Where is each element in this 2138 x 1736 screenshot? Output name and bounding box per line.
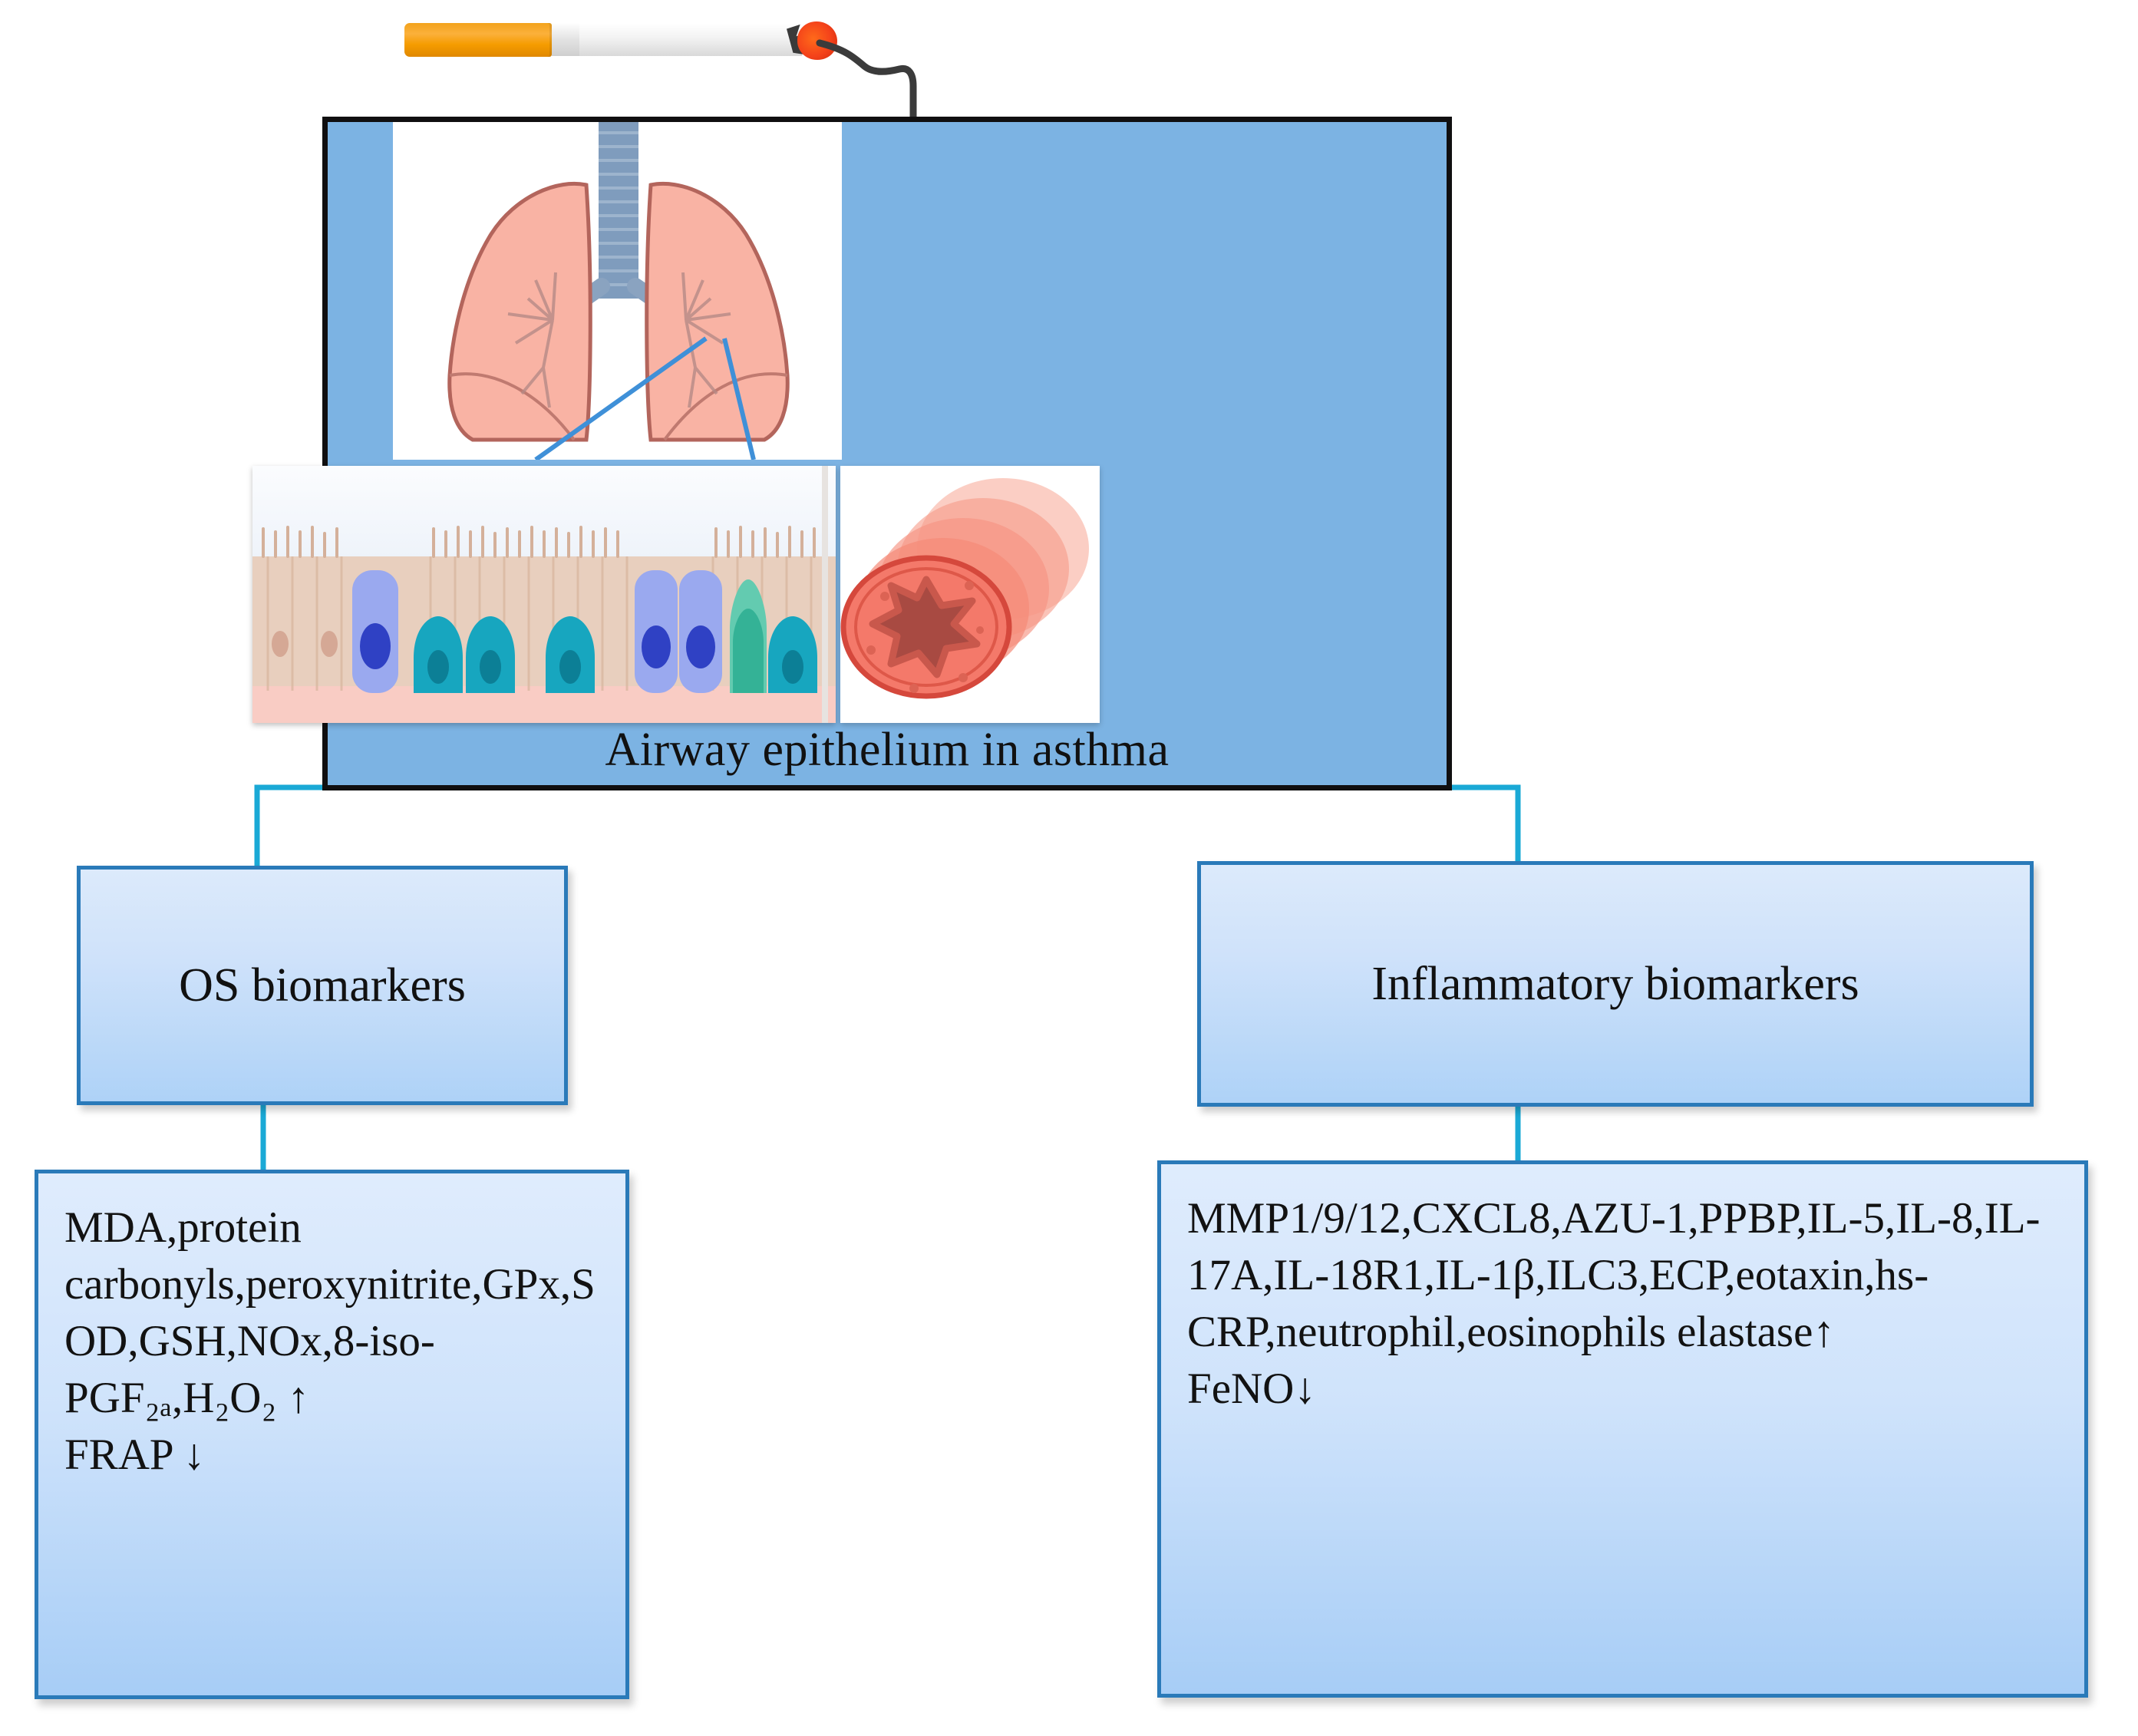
connector-panel-to-os [257, 787, 325, 867]
connector-panel-to-inflammatory [1449, 787, 1518, 863]
cigarette-icon [404, 20, 842, 60]
cigarette-band [552, 24, 579, 56]
lungs-illustration [393, 122, 842, 460]
goblet-cells [352, 570, 722, 693]
os-biomarkers-detail-text: MDA,protein carbonyls,peroxynitrite,GPx,… [64, 1200, 605, 1484]
figure-canvas: Airway epithelium in asthma OS biomarker… [0, 0, 2138, 1736]
os-biomarkers-detail-box[interactable]: MDA,protein carbonyls,peroxynitrite,GPx,… [35, 1170, 629, 1699]
cigarette-filter [404, 23, 552, 57]
constricted-airway-cross-section [840, 466, 1100, 723]
inflammatory-biomarkers-label: Inflammatory biomarkers [1371, 957, 1859, 1012]
left-lung [450, 183, 591, 440]
airway-epithelium-illustration [252, 466, 836, 723]
os-biomarkers-box[interactable]: OS biomarkers [77, 866, 568, 1105]
cigarette-paper [579, 24, 802, 56]
os-biomarkers-label: OS biomarkers [179, 959, 466, 1013]
airway-epithelium-panel: Airway epithelium in asthma [322, 117, 1452, 790]
inflammatory-biomarkers-detail-text: MMP1/9/12,CXCL8,AZU-1,PPBP,IL-5,IL-8,IL-… [1187, 1190, 2064, 1418]
inflammatory-biomarkers-box[interactable]: Inflammatory biomarkers [1197, 861, 2034, 1107]
cilia [263, 527, 814, 556]
inflammatory-biomarkers-detail-box[interactable]: MMP1/9/12,CXCL8,AZU-1,PPBP,IL-5,IL-8,IL-… [1157, 1160, 2088, 1698]
right-lung [647, 183, 788, 440]
page-title: Airway epithelium in asthma [328, 723, 1447, 777]
